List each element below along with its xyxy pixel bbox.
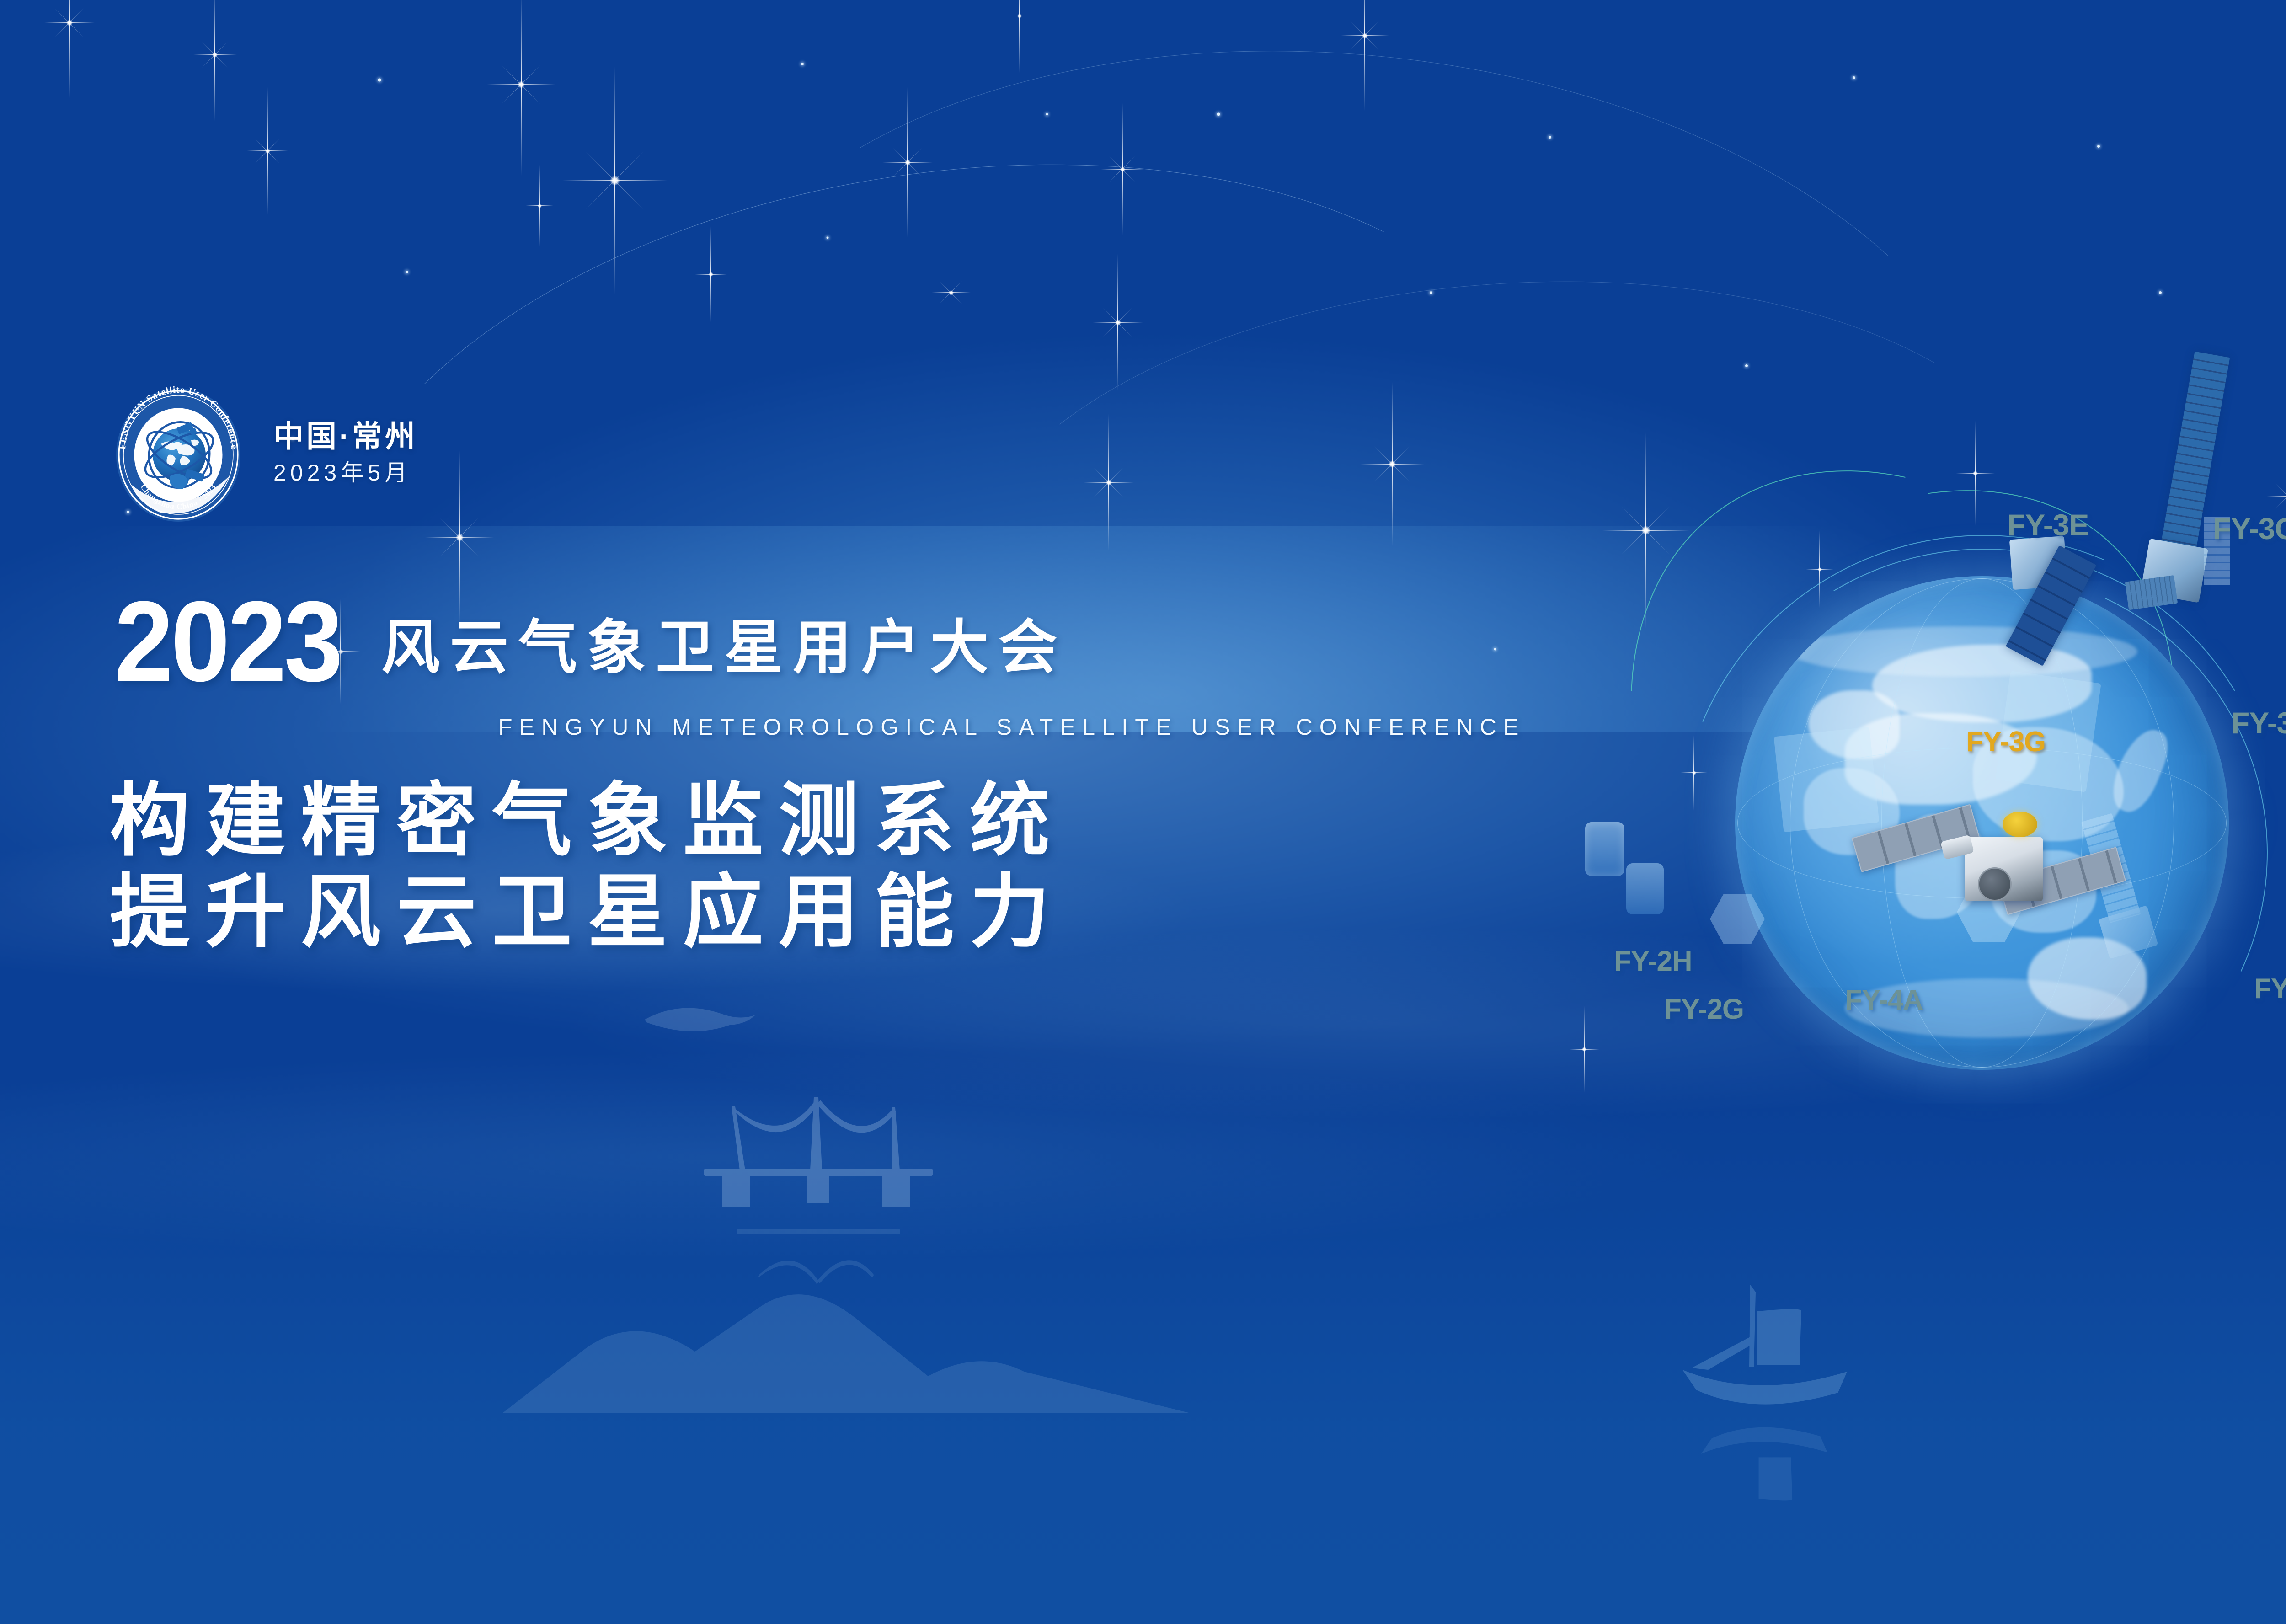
slogan-line-2: 提升风云卫星应用能力 [110,871,1065,954]
city-label: 中国·常州 [273,421,418,451]
mountain-silhouette [503,1262,1189,1413]
star-dot [378,79,381,82]
star-dot [801,63,804,65]
satellite-scene: FY-3E FY-3C FY-3D FY-3G FY-2H FY-2G FY-4… [1413,357,2286,1134]
star-dot [827,237,829,239]
satellite-fy3c-graphic [2009,526,2152,681]
title-year: 2023 [114,594,341,688]
header-block: FENGYUN Satellite User Conference Changz… [110,386,418,524]
ghost-satellite-fy2g [1626,863,1664,914]
slogan-block: 构建精密气象监测系统 提升风云卫星应用能力 [110,780,1065,954]
star-dot [1217,113,1220,116]
star-dot [406,271,408,273]
star-dot [2159,291,2162,294]
slogan-line-1: 构建精密气象监测系统 [110,780,1065,863]
main-title-row: 2023 风云气象卫星用户大会 [114,594,1067,688]
header-text-group: 中国·常州 2023年5月 [273,421,418,489]
fish-silhouette [640,997,759,1038]
satellite-fy3g-graphic [1852,793,2126,944]
satellite-label-fy-3e: FY-3E [2007,510,2088,540]
ghost-satellite-fy2h [1585,822,1624,876]
star-dot [1046,113,1048,116]
satellite-label-fy-3c: FY-3C [2213,513,2286,544]
emblem-graphic: FENGYUN Satellite User Conference Changz… [110,386,247,524]
satellite-label-fy-3g: FY-3G [1966,728,2046,756]
fy3g-radar-dish [2003,812,2037,837]
fy3g-instrument-drum [1978,867,2012,901]
date-label: 2023年5月 [273,461,418,484]
star-dot [2097,145,2100,148]
title-chinese: 风云气象卫星用户大会 [381,619,1067,688]
star-dot [1549,136,1551,139]
satellite-label-fy-2h: FY-2H [1614,947,1692,976]
bridge-silhouette [677,1079,960,1207]
title-english: FENGYUN METEOROLOGICAL SATELLITE USER CO… [498,716,1526,738]
boat-silhouette [1664,1280,1861,1417]
satellite-label-fy-4a: FY-4A [1845,986,1923,1015]
star-dot [1853,76,1855,79]
conference-poster: FENGYUN Satellite User Conference Changz… [0,0,2286,1624]
boat-silhouette-reflection [1664,1417,1861,1522]
satellite-label-fy-2g: FY-2G [1664,995,1744,1024]
star-dot [1430,291,1432,294]
satellite-label-fy-3d: FY-3D [2231,708,2286,738]
conference-emblem: FENGYUN Satellite User Conference Changz… [110,386,247,524]
satellite-label-fy-4b: FY-4B [2254,975,2286,1003]
